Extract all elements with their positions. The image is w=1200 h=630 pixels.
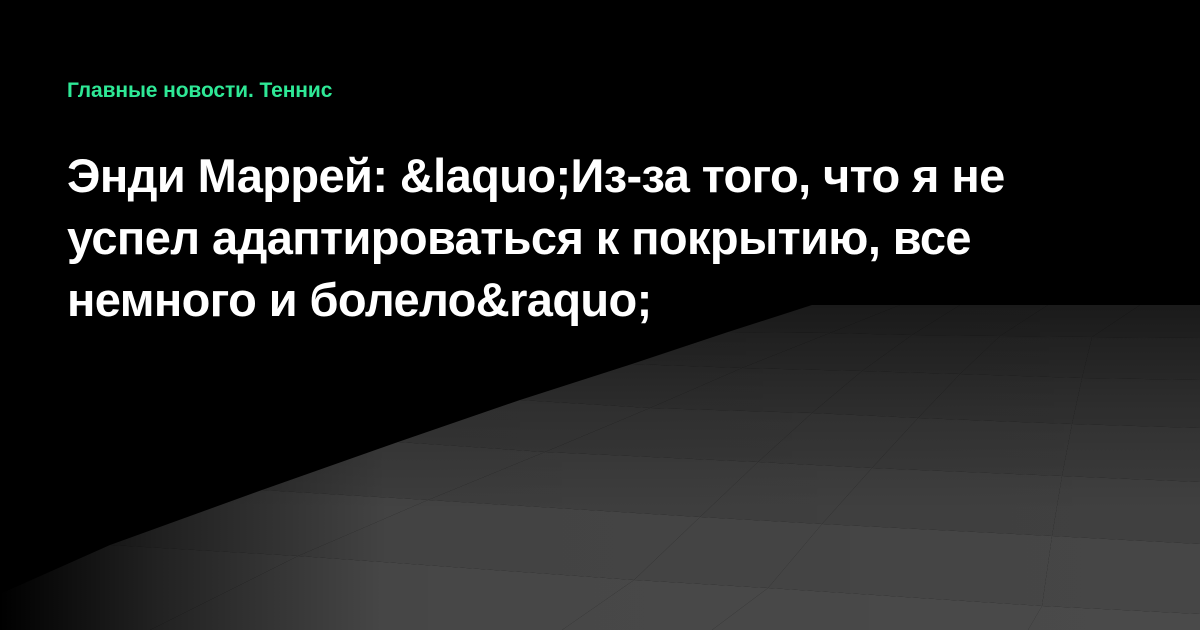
kicker-category: Главные новости. Теннис [67,78,1133,104]
card-content: Главные новости. Теннис Энди Маррей: &la… [0,0,1200,630]
headline: Энди Маррей: &laquo;Из-за того, что я не… [67,145,1097,331]
share-card: Главные новости. Теннис Энди Маррей: &la… [0,0,1200,630]
